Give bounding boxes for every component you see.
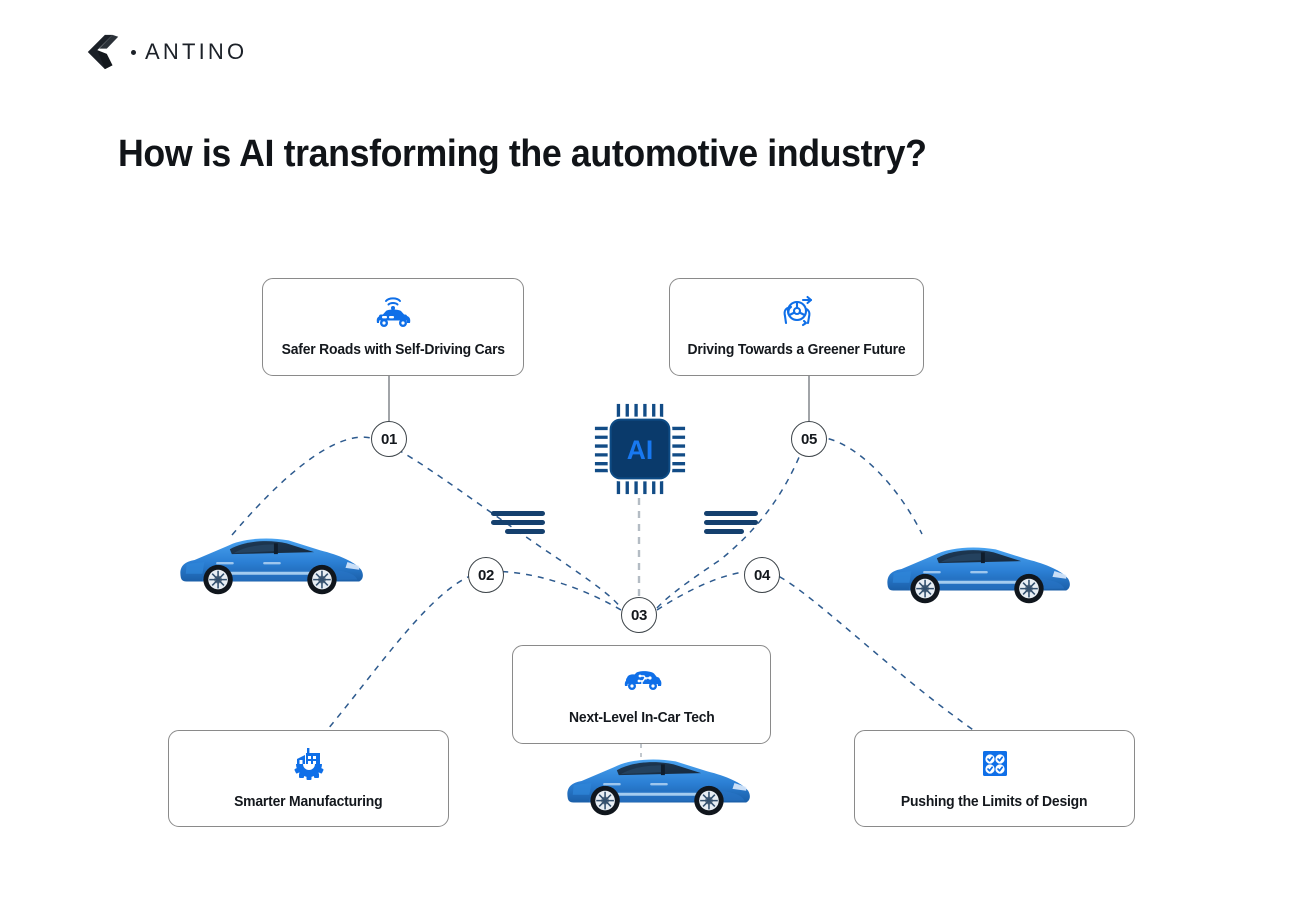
card-safer-roads[interactable]: Safer Roads with Self-Driving Cars [262,278,524,376]
node-02[interactable]: 02 [468,557,504,593]
node-02-label: 02 [478,567,494,584]
node-01-label: 01 [381,431,397,448]
card-greener-future-label: Driving Towards a Greener Future [688,342,906,358]
chip-label: AI [627,435,653,465]
factory-gear-icon [285,744,333,784]
motion-lines-icon-right [700,510,762,536]
blue-sedan-side-icon-bottom [560,745,756,817]
car-circuit-icon [618,660,666,700]
card-limits-of-design-label: Pushing the Limits of Design [901,794,1087,810]
card-in-car-tech-label: Next-Level In-Car Tech [569,710,715,726]
node-04-label: 04 [754,567,770,584]
card-greener-future[interactable]: Driving Towards a Greener Future [669,278,924,376]
node-03[interactable]: 03 [621,597,657,633]
card-smarter-manufacturing-label: Smarter Manufacturing [234,794,382,810]
card-in-car-tech[interactable]: Next-Level In-Car Tech [512,645,771,744]
node-05[interactable]: 05 [791,421,827,457]
node-03-label: 03 [631,607,647,624]
four-check-grid-icon [971,744,1019,784]
blue-sedan-side-icon-right [880,533,1076,605]
node-05-label: 05 [801,431,817,448]
card-limits-of-design[interactable]: Pushing the Limits of Design [854,730,1135,827]
steering-wheel-hands-arrow-icon [773,292,821,332]
infographic-page: ANTINO How is AI transforming the automo… [0,0,1300,916]
node-04[interactable]: 04 [744,557,780,593]
card-smarter-manufacturing[interactable]: Smarter Manufacturing [168,730,449,827]
motion-lines-icon-left [491,510,553,536]
blue-sedan-side-icon-left [173,524,369,596]
card-safer-roads-label: Safer Roads with Self-Driving Cars [281,342,504,358]
self-driving-car-wifi-icon [369,292,417,332]
ai-chip-icon: AI [591,400,689,498]
node-01[interactable]: 01 [371,421,407,457]
